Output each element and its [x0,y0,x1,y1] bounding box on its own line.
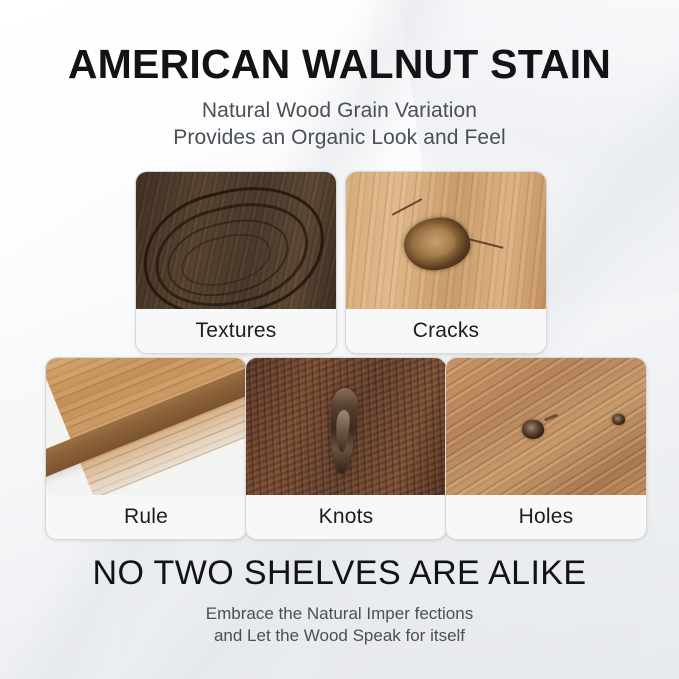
product-feature-poster: AMERICAN WALNUT STAIN Natural Wood Grain… [0,0,679,679]
page-subtitle-line-2: Provides an Organic Look and Feel [0,125,679,152]
hole-small [612,414,625,425]
feature-card-rule[interactable]: Rule [45,357,247,540]
wood-grain-texture-medium-brown [446,358,646,495]
page-subtitle-line-1: Natural Wood Grain Variation [0,98,679,125]
feature-card-label-knots: Knots [246,495,446,539]
feature-photo-knots [246,358,446,495]
feature-card-label-cracks: Cracks [346,309,546,353]
page-subtitle: Natural Wood Grain Variation Provides an… [0,98,679,152]
feature-photo-rule [46,358,246,495]
feature-card-knots[interactable]: Knots [245,357,447,540]
feature-photo-cracks [346,172,546,309]
feature-card-cracks[interactable]: Cracks [345,171,547,354]
feature-photo-textures [136,172,336,309]
footer-text-block: NO TWO SHELVES ARE ALIKE Embrace the Nat… [0,556,679,648]
footer-subtitle-line-2: and Let the Wood Speak for itself [0,625,679,647]
feature-card-label-holes: Holes [446,495,646,539]
page-title: AMERICAN WALNUT STAIN [0,44,679,86]
feature-card-label-rule: Rule [46,495,246,539]
footer-subtitle: Embrace the Natural Imper fections and L… [0,603,679,648]
feature-card-label-textures: Textures [136,309,336,353]
feature-photo-holes [446,358,646,495]
footer-subtitle-line-1: Embrace the Natural Imper fections [0,603,679,625]
feature-card-holes[interactable]: Holes [445,357,647,540]
hole-large [522,420,544,439]
feature-card-textures[interactable]: Textures [135,171,337,354]
footer-title: NO TWO SHELVES ARE ALIKE [0,556,679,592]
header-text-block: AMERICAN WALNUT STAIN Natural Wood Grain… [0,44,679,152]
